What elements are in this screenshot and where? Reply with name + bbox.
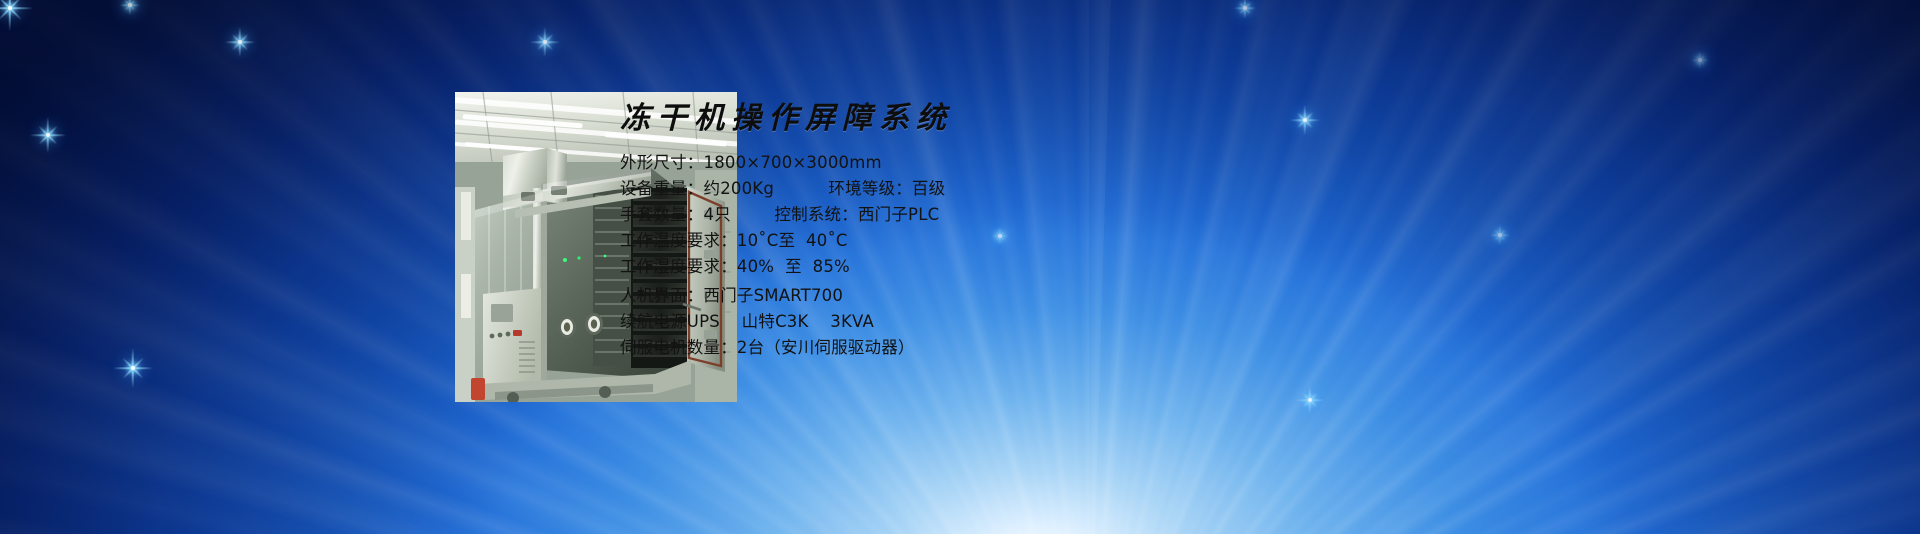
spec-line-humidity: 工作湿度要求：40% 至 85% — [620, 254, 1320, 280]
page-title: 冻干机操作屏障系统 — [620, 100, 1320, 138]
spec-line-weight-grade: 设备重量：约200Kg 环境等级：百级 — [620, 176, 1320, 202]
spec-line-servo: 伺服电机数量：2台（安川伺服驱动器） — [620, 335, 1320, 361]
spec-line-hmi: 人机界面：西门子SMART700 — [620, 283, 1320, 309]
spec-line-dimensions: 外形尺寸：1800×700×3000mm — [620, 150, 1320, 176]
banner-content: 冻干机操作屏障系统 外形尺寸：1800×700×3000mm设备重量：约200K… — [620, 100, 1320, 361]
spec-line-ups: 续航电源UPS 山特C3K 3KVA — [620, 309, 1320, 335]
spec-line-temperature: 工作温度要求：10˚C至 40˚C — [620, 228, 1320, 254]
spec-line-gloves-plc: 手套数量：4只 控制系统：西门子PLC — [620, 202, 1320, 228]
spec-list: 外形尺寸：1800×700×3000mm设备重量：约200Kg 环境等级：百级手… — [620, 150, 1320, 361]
product-banner: 冻干机操作屏障系统 外形尺寸：1800×700×3000mm设备重量：约200K… — [0, 0, 1920, 534]
